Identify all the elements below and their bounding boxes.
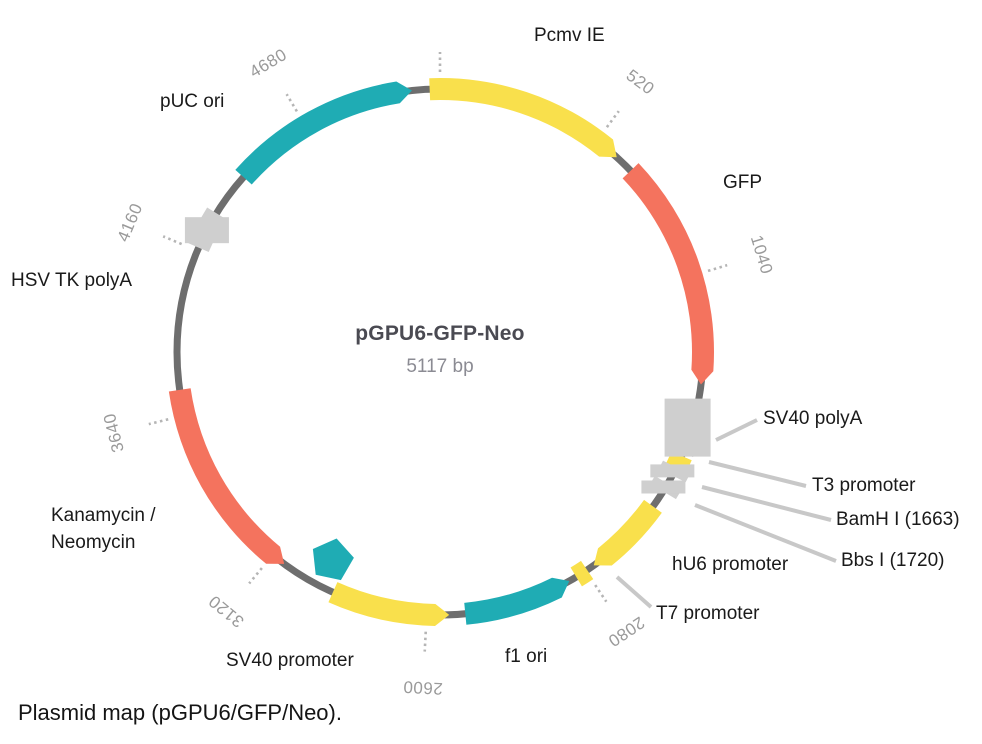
tick-4680-label: 4680 (246, 45, 290, 82)
feature-sv40-polya-box[interactable] (665, 399, 711, 457)
feature-gfp[interactable] (623, 163, 714, 384)
tick-3120-mark (249, 568, 262, 583)
label-sv40-polya: SV40 polyA (763, 408, 863, 429)
tick-2080-label: 2080 (604, 613, 648, 651)
tick-520-label: 520 (623, 66, 658, 99)
leader-t3 (709, 462, 806, 486)
feature-labels: Pcmv IEGFPSV40 polyAT3 promoterBamH I (1… (11, 25, 960, 671)
leader-sv40-polya (716, 420, 757, 440)
plasmid-map-figure: 5201040208026003120364041604680 Pcmv IEG… (0, 0, 982, 744)
label-puc-ori: pUC ori (160, 91, 224, 112)
leader-bbsi (695, 505, 836, 561)
restriction-site-bar-bbsi[interactable] (641, 480, 685, 493)
tick-3640-label: 3640 (100, 411, 128, 454)
label-t7-promoter: T7 promoter (656, 603, 760, 624)
tick-2600-mark (425, 632, 426, 652)
figure-caption: Plasmid map (pGPU6/GFP/Neo). (18, 700, 342, 726)
label-kan-line2: Neomycin (51, 532, 135, 553)
tick-4160-mark (163, 236, 181, 244)
restriction-site-bar-bamhi[interactable] (650, 464, 694, 477)
label-pcmv-ie: Pcmv IE (534, 25, 605, 46)
label-t3-promoter: T3 promoter (812, 475, 916, 496)
label-sv40-promoter: SV40 promoter (226, 650, 354, 671)
tick-1040-mark (708, 265, 727, 271)
plasmid-size: 5117 bp (406, 356, 473, 377)
feature-sv40-promoter[interactable] (328, 582, 449, 626)
plasmid-diagram: 5201040208026003120364041604680 Pcmv IEG… (0, 0, 982, 744)
feature-pcmv-ie[interactable] (429, 78, 616, 157)
label-bamhi: BamH I (1663) (836, 509, 960, 530)
label-kan-line1: Kanamycin / (51, 505, 156, 526)
feature-puc-ori[interactable] (235, 82, 412, 185)
feature-hu6-promoter[interactable] (594, 500, 662, 566)
tick-3640-mark (149, 419, 168, 424)
tick-2080-mark (595, 585, 606, 602)
coordinate-ticks (149, 52, 727, 652)
feature-unlabeled-marker[interactable] (313, 539, 354, 581)
leader-t7 (617, 577, 651, 607)
label-bbsi: Bbs I (1720) (841, 550, 945, 571)
label-gfp: GFP (723, 172, 762, 193)
label-hu6-promoter: hU6 promoter (672, 554, 789, 575)
plasmid-name: pGPU6-GFP-Neo (355, 322, 524, 345)
tick-4160-label: 4160 (114, 200, 147, 244)
tick-520-mark (607, 111, 619, 127)
tick-1040-label: 1040 (747, 233, 777, 277)
label-f1-ori: f1 ori (505, 646, 547, 667)
tick-3120-label: 3120 (205, 591, 248, 631)
feature-kan-neo[interactable] (169, 388, 284, 564)
feature-f1-ori[interactable] (464, 578, 569, 625)
feature-hsv-tk-polya-box[interactable] (185, 217, 229, 243)
label-hsv-tk-polya: HSV TK polyA (11, 270, 132, 291)
feature-arcs (169, 78, 714, 626)
tick-4680-mark (287, 94, 297, 111)
tick-2600-label: 2600 (403, 677, 444, 698)
